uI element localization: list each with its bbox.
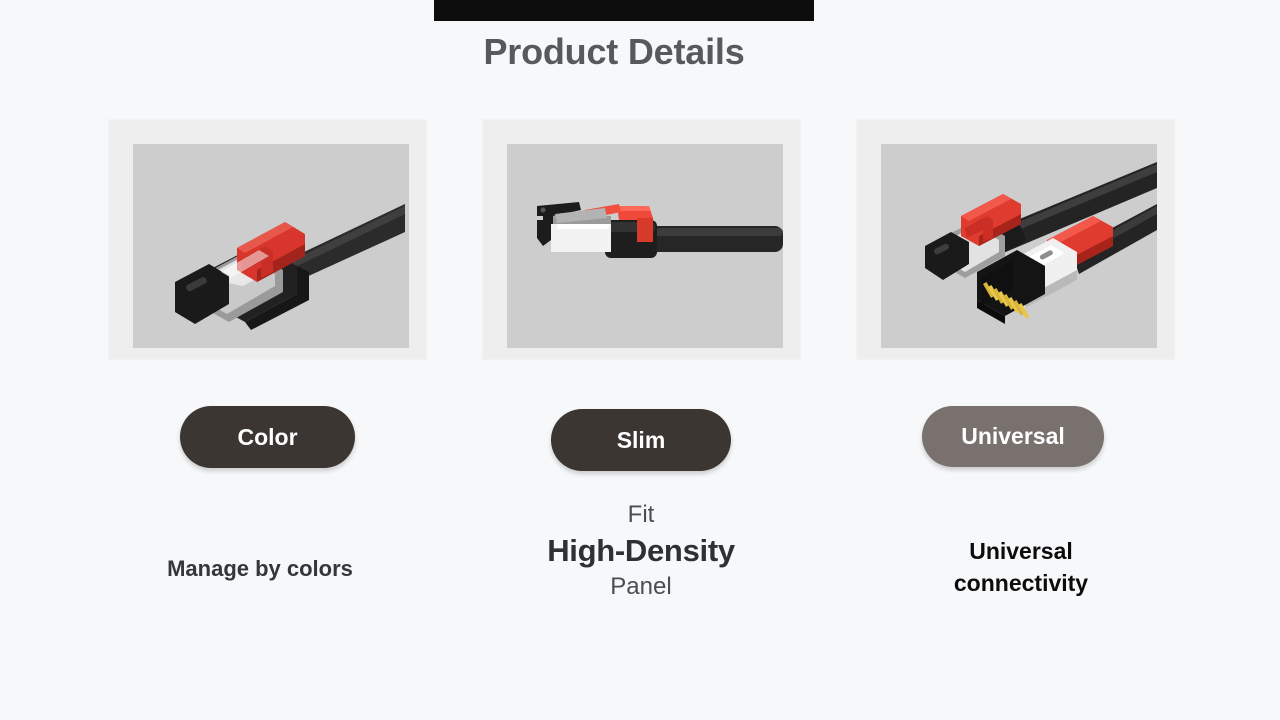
product-card-color[interactable] <box>108 119 427 360</box>
caption-slim: Fit High-Density Panel <box>482 500 800 603</box>
rj45-two-connectors-gold-pins-icon <box>881 144 1157 348</box>
rj45-connector-angled-icon <box>133 144 409 348</box>
caption-universal-line1: Universal <box>856 535 1186 567</box>
feature-pill-slim[interactable]: Slim <box>551 409 731 471</box>
top-black-bar <box>434 0 814 21</box>
rj45-connector-side-profile-icon <box>507 144 783 348</box>
feature-pill-universal[interactable]: Universal <box>922 406 1104 467</box>
product-cards-row <box>0 119 1280 360</box>
product-image-color <box>133 144 409 348</box>
product-card-slim[interactable] <box>482 119 801 360</box>
product-image-universal <box>881 144 1157 348</box>
feature-pill-color[interactable]: Color <box>180 406 355 468</box>
product-image-slim <box>507 144 783 348</box>
page-title: Product Details <box>0 30 1228 74</box>
caption-slim-line1: Fit <box>482 500 800 530</box>
caption-color: Manage by colors <box>108 556 412 582</box>
caption-universal-line2: connectivity <box>856 567 1186 599</box>
caption-slim-line3: Panel <box>482 571 800 603</box>
caption-universal: Universal connectivity <box>856 535 1186 599</box>
product-card-universal[interactable] <box>856 119 1175 360</box>
caption-slim-line2: High-Density <box>482 530 800 571</box>
